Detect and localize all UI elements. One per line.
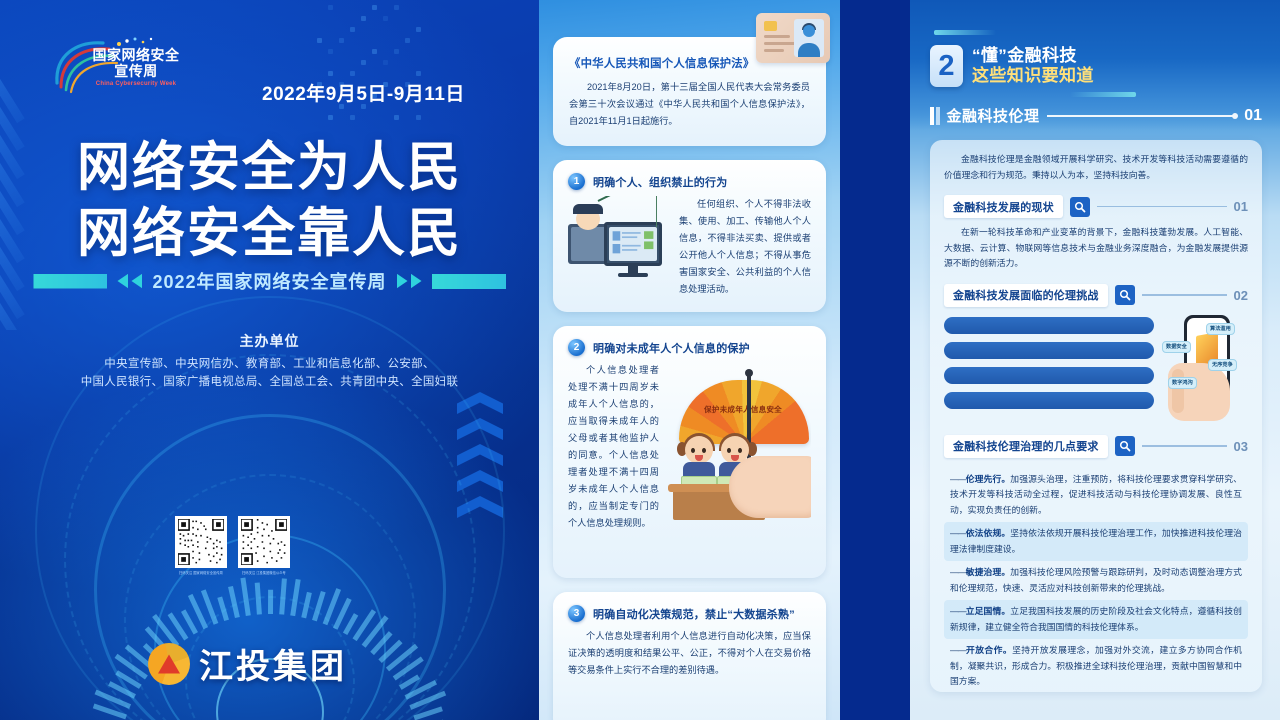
point-title: 明确对未成年人个人信息的保护 (593, 340, 750, 356)
requirement-term: 敏捷治理。 (966, 567, 1011, 577)
block-body-1: 在新一轮科技革命和产业变革的背景下，金融科技蓬勃发展。人工智能、大数据、云计算、… (944, 225, 1248, 272)
ribbon-bar-right (432, 274, 506, 289)
subsection-number: 01 (1244, 107, 1262, 125)
point-title: 明确自动化决策规范，禁止“大数据杀熟” (593, 606, 795, 622)
law-body: 2021年8月20日，第十三届全国人民代表大会常务委员会第三十次会议通过《中华人… (569, 79, 810, 130)
tag-data-security: 数据安全 (1162, 341, 1191, 353)
requirement-item: ——伦理先行。加强源头治理，注重预防，将科技伦理要求贯穿科学研究、技术开发等科技… (944, 468, 1248, 523)
block-number: 02 (1234, 288, 1248, 303)
point-title: 明确个人、组织禁止的行为 (593, 174, 727, 190)
jiangtou-logo-icon (148, 643, 190, 685)
event-date: 2022年9月5日-9月11日 (262, 79, 465, 106)
tag-disorderly-competition: 无序竞争 (1208, 359, 1237, 371)
qr-pattern-icon (241, 519, 287, 565)
challenges-area: 算法滥用 数据安全 无序竞争 数字鸿沟 (944, 315, 1248, 423)
requirement-term: 依法依规。 (966, 528, 1011, 538)
qr-code-2[interactable] (238, 516, 290, 568)
qr-caption-1: 扫码关注 国家网络安全宣传周 (175, 570, 227, 575)
block-label: 金融科技发展面临的伦理挑战 (944, 284, 1108, 307)
requirement-item: ——开放合作。坚持开放发展理念，加强对外交流，建立多方协同合作机制，凝聚共识，形… (944, 639, 1248, 694)
panel-fintech-ethics: 2 “懂”金融科技 这些知识要知道 金融科技伦理 01 金融科技伦理是金融领域开… (910, 0, 1280, 720)
ribbon-chevrons-left (117, 274, 142, 289)
requirement-dash: —— (950, 528, 966, 538)
point-body: 个人信息处理者利用个人信息进行自动化决策，应当保证决策的透明度和结果公平、公正，… (568, 628, 811, 679)
block-header-1: 金融科技发展的现状 01 (944, 195, 1248, 218)
search-icon (1115, 436, 1135, 456)
subsection-header: 金融科技伦理 01 (930, 105, 1262, 126)
umbrella-label: 保护未成年人信息安全 (683, 404, 803, 415)
challenge-bar (944, 392, 1154, 409)
qr-item[interactable]: 扫码关注 国家网络安全宣传周 (175, 516, 227, 575)
requirement-item: ——敏捷治理。加强科技伦理风险预警与跟踪研判，及时动态调整治理方式和伦理规范，快… (944, 561, 1248, 600)
requirement-item: ——立足国情。立足我国科技发展的历史阶段及社会文化特点，遵循科技创新规律，建立健… (944, 600, 1248, 639)
point-number-badge: 1 (568, 173, 585, 190)
cybersecurity-week-logo: 国家网络安全 宣传周 China Cybersecurity Week (47, 35, 179, 97)
ribbon-banner: 2022年国家网络安全宣传周 (0, 268, 539, 294)
block-rule (1142, 445, 1227, 447)
headline-line-2: 网络安全靠人民 (0, 201, 539, 267)
smartphone-illustration-icon: 算法滥用 数据安全 无序竞争 数字鸿沟 (1162, 315, 1248, 423)
ribbon-chevrons-right (397, 274, 422, 289)
section-title-line2: 这些知识要知道 (972, 66, 1094, 86)
tag-algorithm-abuse: 算法滥用 (1206, 323, 1235, 335)
point-number-badge: 3 (568, 605, 585, 622)
subsection-rule (1047, 115, 1238, 117)
block-label: 金融科技伦理治理的几点要求 (944, 435, 1108, 458)
ethics-intro-text: 金融科技伦理是金融领域开展科学研究、技术开发等科技活动需要遵循的价值理念和行为规… (944, 152, 1248, 183)
point-number-badge: 2 (568, 339, 585, 356)
requirement-dash: —— (950, 606, 966, 616)
subsection-marker-icon (930, 107, 940, 125)
ribbon-label: 2022年国家网络安全宣传周 (152, 268, 386, 294)
search-icon (1115, 285, 1135, 305)
law-card: 《中华人民共和国个人信息保护法》 2021年8月20日，第十三届全国人民代表大会… (553, 37, 826, 146)
block-rule (1097, 206, 1227, 208)
qr-caption-2: 扫码关注 江投集团微信公众号 (238, 570, 290, 575)
tag-digital-divide: 数字鸿沟 (1168, 377, 1197, 389)
header-accent-bar-right (1070, 92, 1136, 97)
poster-canvas: 国家网络安全 宣传周 China Cybersecurity Week 2022… (0, 0, 1280, 720)
header-accent-bar-left (934, 30, 996, 35)
logo-english-name: China Cybersecurity Week (90, 81, 182, 87)
requirements-list: ——伦理先行。加强源头治理，注重预防，将科技伦理要求贯穿科学研究、技术开发等科技… (944, 468, 1248, 694)
qr-code-group: 扫码关注 国家网络安全宣传周 (175, 516, 290, 575)
id-card-illustration-icon (756, 13, 830, 63)
requirement-dash: —— (950, 645, 966, 655)
challenge-bar (944, 367, 1154, 384)
logo-cn-line2: 宣传周 (114, 63, 158, 79)
phishing-illustration-icon (568, 198, 672, 290)
logo-cn-line1: 国家网络安全 (93, 47, 180, 63)
block-label: 金融科技发展的现状 (944, 195, 1063, 218)
ribbon-bar-left (33, 274, 107, 289)
company-brand: 江投集团 (148, 639, 347, 688)
requirement-term: 开放合作。 (966, 645, 1012, 655)
block-number: 03 (1234, 439, 1248, 454)
section-number-badge: 2 (930, 45, 963, 87)
block-header-2: 金融科技发展面临的伦理挑战 02 (944, 284, 1248, 307)
fintech-ethics-content-card: 金融科技伦理是金融领域开展科学研究、技术开发等科技活动需要遵循的价值理念和行为规… (930, 140, 1262, 692)
requirement-term: 伦理先行。 (966, 474, 1011, 484)
requirement-item: ——依法依规。坚持依法依规开展科技伦理治理工作，加快推进科技伦理治理法律制度建设… (944, 522, 1248, 561)
challenge-bar (944, 342, 1154, 359)
challenge-bar (944, 317, 1154, 334)
minors-protection-illustration-icon: 保护未成年人信息安全 (665, 364, 811, 564)
law-point-2: 2 明确对未成年人个人信息的保护 保护未成年人信息安全 个人信息处理者处理不满十… (553, 326, 826, 578)
block-header-3: 金融科技伦理治理的几点要求 03 (944, 435, 1248, 458)
section-header: 2 “懂”金融科技 这些知识要知道 (930, 45, 1094, 87)
monitor-screen-icon (609, 227, 657, 261)
block-number: 01 (1234, 199, 1248, 214)
challenge-placeholder-bars (944, 315, 1154, 423)
poster-headline: 网络安全为人民 网络安全靠人民 (0, 135, 539, 267)
section-title-line1: “懂”金融科技 (972, 46, 1094, 66)
subsection-title: 金融科技伦理 (947, 105, 1040, 126)
qr-item[interactable]: 扫码关注 江投集团微信公众号 (238, 516, 290, 575)
search-icon (1070, 197, 1090, 217)
company-name: 江投集团 (199, 639, 347, 688)
requirement-term: 立足国情。 (966, 606, 1011, 616)
law-point-1: 1 明确个人、组织禁止的行为 (553, 160, 826, 312)
qr-code-1[interactable] (175, 516, 227, 568)
requirement-dash: —— (950, 567, 966, 577)
panel-cybersecurity-week-poster: 国家网络安全 宣传周 China Cybersecurity Week 2022… (0, 0, 539, 720)
law-point-3: 3 明确自动化决策规范，禁止“大数据杀熟” 个人信息处理者利用个人信息进行自动化… (553, 592, 826, 720)
block-rule (1142, 294, 1227, 296)
qr-pattern-icon (178, 519, 224, 565)
headline-line-1: 网络安全为人民 (0, 135, 539, 201)
requirement-dash: —— (950, 474, 966, 484)
logo-chinese-name: 国家网络安全 宣传周 (90, 47, 182, 79)
panel-personal-information-protection-law: 《中华人民共和国个人信息保护法》 2021年8月20日，第十三届全国人民代表大会… (539, 0, 840, 720)
